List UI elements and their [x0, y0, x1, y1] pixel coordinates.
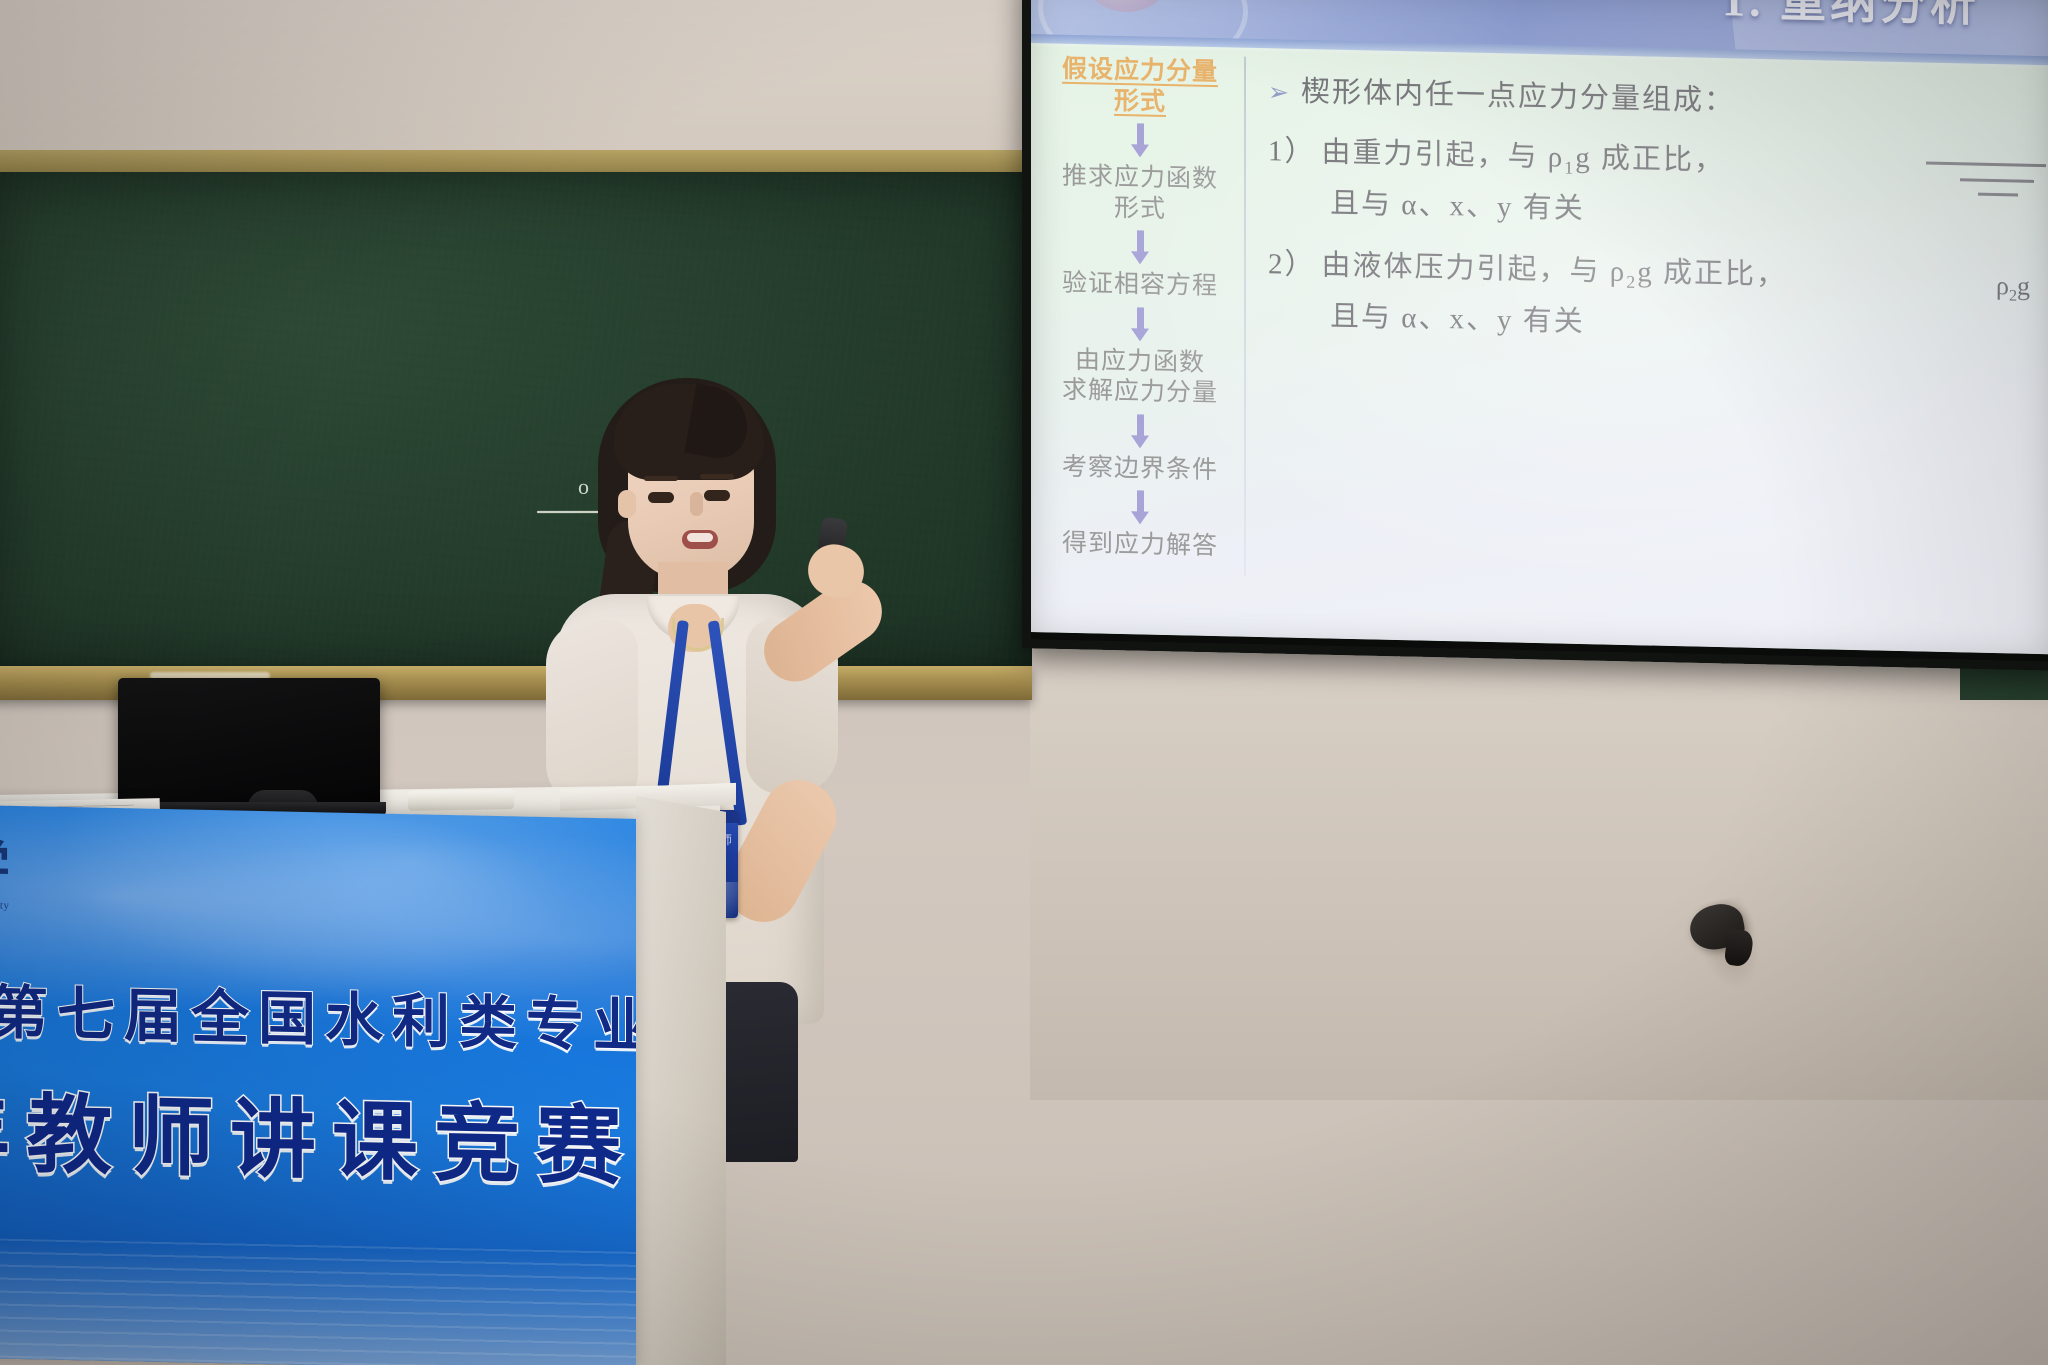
- column-divider: [1244, 57, 1246, 577]
- podium-side-panel: [636, 796, 726, 1365]
- triangle-bullet-icon: ➢: [1268, 79, 1291, 107]
- flow-step-1: 推求应力函数形式: [1042, 161, 1238, 226]
- flowchart-column: 假设应力分量形式 推求应力函数形式 验证相容方程 由应力函数求解应力分量 考察边…: [1042, 54, 1238, 563]
- flow-arrow-1: [1136, 230, 1145, 264]
- university-logo-glyph: 学: [0, 841, 42, 895]
- flow-step-4: 考察边界条件: [1042, 452, 1238, 487]
- mouth-inner: [687, 533, 713, 542]
- flow-arrow-3: [1136, 414, 1145, 448]
- water-level-line-3: [1978, 193, 2018, 197]
- flow-step-2: 验证相容方程: [1042, 268, 1238, 303]
- water-level-diagram: ρ2g: [1896, 151, 2046, 334]
- flow-step-5: 得到应力解答: [1042, 528, 1238, 563]
- sleeve-left: [546, 620, 638, 808]
- bullet-heading-text: 楔形体内任一点应力分量组成：: [1301, 76, 1735, 117]
- banner-line-2: 年教师讲课竞赛: [0, 1062, 636, 1202]
- laptop-lid: D∆LL: [118, 678, 380, 808]
- bullet-item-2-number: 2）: [1268, 248, 1316, 281]
- flow-step-0: 假设应力分量形式: [1042, 54, 1238, 119]
- water-level-line-1: [1926, 162, 2046, 168]
- nose: [690, 492, 703, 516]
- eyebrow-left: [644, 476, 678, 481]
- competition-banner: 学 University 第七届全国水利类专业 年教师讲课竞赛: [0, 805, 636, 1365]
- classroom-scene: o x α y 1. 重纳分析 假设应力分量形式 推求应力函数形式: [0, 0, 2048, 1365]
- bullet-item-2-subscript: 2: [1626, 272, 1637, 292]
- bullet-heading: ➢楔形体内任一点应力分量组成：: [1268, 67, 2038, 126]
- slide-title: 1. 重纳分析: [1722, 0, 1980, 35]
- projection-screen: 1. 重纳分析 假设应力分量形式 推求应力函数形式 验证相容方程 由应力函数求解…: [1030, 0, 2048, 654]
- wall-lower-right-section: [1030, 640, 2048, 1100]
- flow-arrow-2: [1136, 307, 1145, 341]
- rho2g-label: ρ2g: [1996, 271, 2030, 306]
- water-level-line-2: [1960, 178, 2034, 183]
- university-logo-english: University: [0, 899, 42, 913]
- eyebrow-right: [700, 474, 734, 479]
- university-logo: 学 University: [0, 841, 42, 939]
- bullet-item-2-text-b: g 成正比，: [1637, 256, 1787, 291]
- banner-water-lines: [0, 1238, 636, 1365]
- eye-right: [704, 490, 730, 501]
- bullet-item-1-subscript: 1: [1564, 157, 1575, 177]
- wall-upper-section: [0, 0, 1030, 165]
- bullet-item-1-text-b: g 成正比，: [1575, 142, 1725, 177]
- bullet-item-1-number: 1）: [1268, 135, 1316, 168]
- slide-body: 假设应力分量形式 推求应力函数形式 验证相容方程 由应力函数求解应力分量 考察边…: [1030, 46, 2048, 654]
- bullet-item-1-text-a: 由重力引起，与 ρ: [1322, 136, 1565, 173]
- presentation-slide: 1. 重纳分析 假设应力分量形式 推求应力函数形式 验证相容方程 由应力函数求解…: [1030, 0, 2048, 654]
- bullet-item-2-text-a: 由液体压力引起，与 ρ: [1322, 249, 1627, 288]
- phone-on-desk: [408, 789, 514, 811]
- ear: [618, 490, 636, 518]
- flow-arrow-4: [1136, 490, 1145, 524]
- eye-left: [648, 492, 674, 503]
- banner-line-1: 第七届全国水利类专业: [0, 965, 636, 1063]
- flow-step-3: 由应力函数求解应力分量: [1042, 345, 1238, 410]
- flow-arrow-0: [1136, 123, 1145, 157]
